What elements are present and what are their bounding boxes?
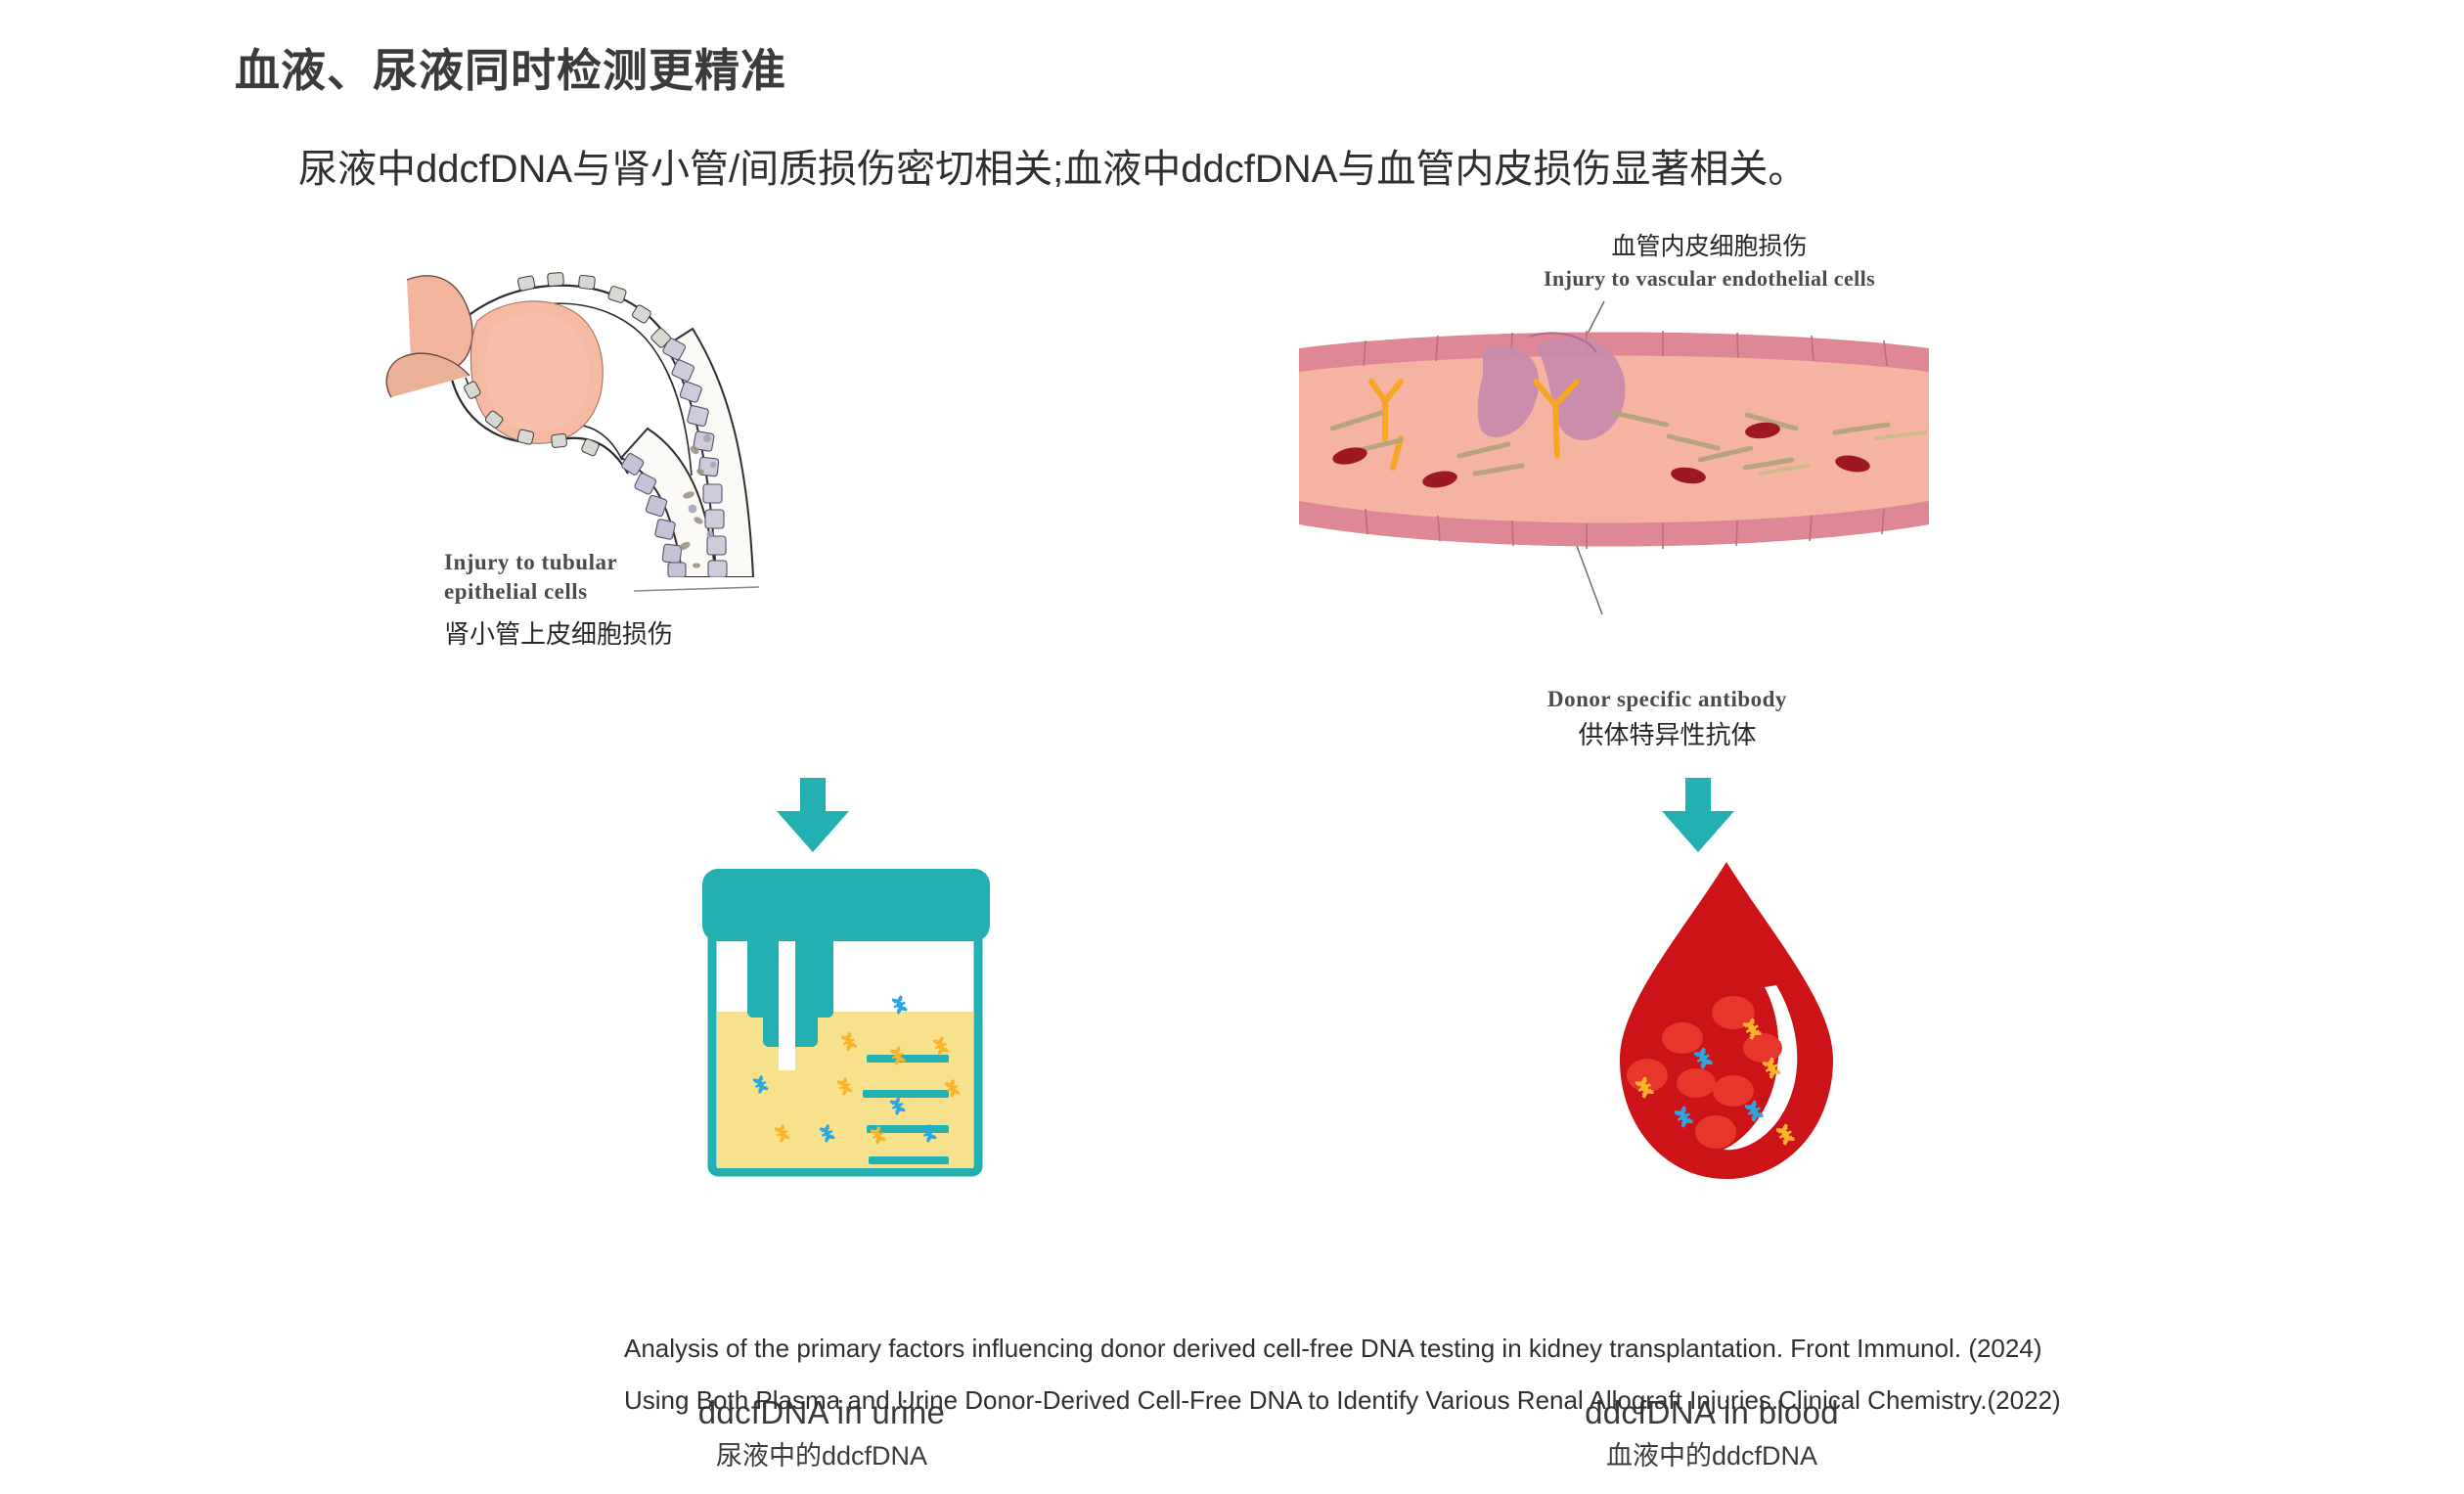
citation-2: Using Both Plasma and Urine Donor-Derive… [624,1375,2061,1426]
callout-tubular-en-line2: epithelial cells [444,577,673,607]
citation-1: Analysis of the primary factors influenc… [624,1323,2061,1375]
citations: Analysis of the primary factors influenc… [624,1323,2061,1426]
panel-urine: Injury to tubular epithelial cells 肾小管上皮… [372,264,1056,582]
nephron-figure: Injury to tubular epithelial cells 肾小管上皮… [372,264,1056,582]
caption-blood-zh: 血液中的ddcfDNA [1487,1434,1937,1472]
down-arrow-icon [1658,778,1738,854]
page-subtitle: 尿液中ddcfDNA与肾小管/间质损伤密切相关;血液中ddcfDNA与血管内皮损… [298,137,1807,194]
callout-endothelial-zh: 血管内皮细胞损伤 [1544,227,1875,262]
caption-urine-zh: 尿液中的ddcfDNA [597,1434,1047,1472]
page-title: 血液、尿液同时检测更精准 [235,35,786,100]
urine-specimen-cup-icon [694,863,1008,1186]
callout-dsa-en: Donor specific antibody [1547,687,1787,712]
callout-tubular-en-line1: Injury to tubular [444,548,673,577]
blood-drop-icon [1585,856,1868,1189]
nephron-tubule-diagram [372,264,783,577]
callout-endothelial-injury: 血管内皮细胞损伤 Injury to vascular endothelial … [1544,227,1875,292]
callout-tubular-zh: 肾小管上皮细胞损伤 [444,614,673,651]
callout-endothelial-en: Injury to vascular endothelial cells [1544,266,1875,292]
callout-dsa-zh: 供体特异性抗体 [1547,715,1787,751]
callout-tubular-injury: Injury to tubular epithelial cells 肾小管上皮… [444,548,673,651]
down-arrow-icon [773,778,853,854]
callout-donor-specific-antibody: Donor specific antibody 供体特异性抗体 [1547,687,1787,751]
blood-vessel-cross-section-diagram [1291,292,1937,683]
